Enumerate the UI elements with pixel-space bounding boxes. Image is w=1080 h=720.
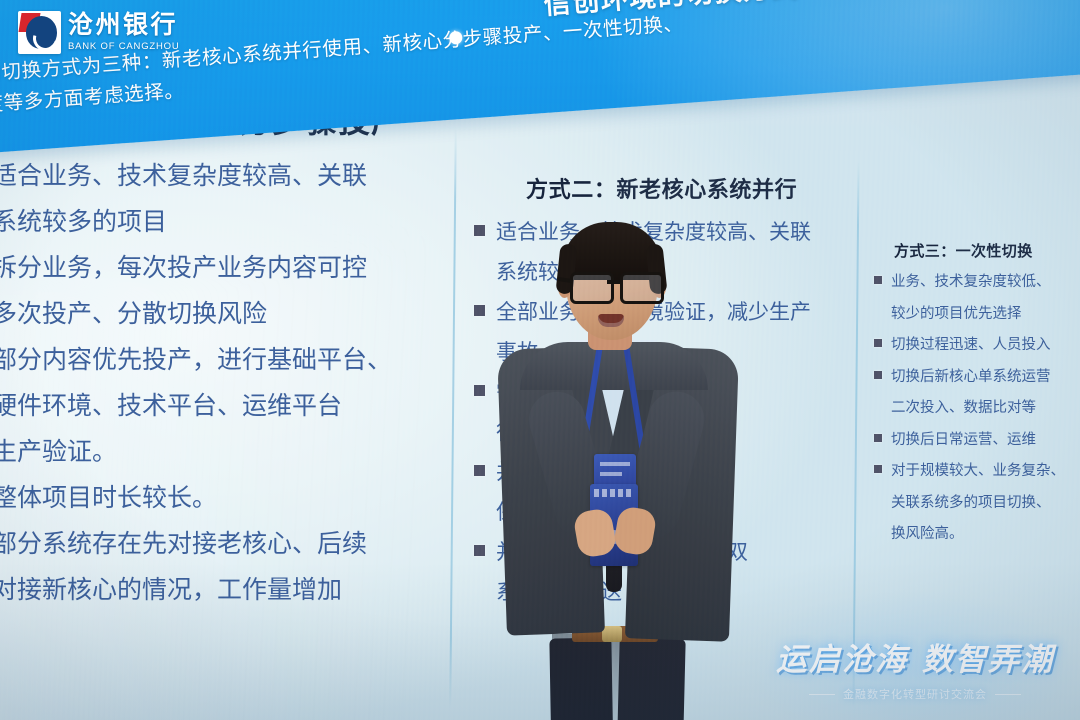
- column-three-bullets: 业务、技术复杂度较低、 较少的项目优先选择 切换过程迅速、人员投入 切换后新核心…: [872, 270, 1080, 548]
- list-item: 部分内容优先投产，进行基础平台、: [0, 340, 436, 380]
- list-item: 对于规模较大、业务复杂、: [872, 459, 1080, 485]
- list-item: 关联系统多的项目切换、: [872, 491, 1080, 517]
- list-item: 生产验证。: [0, 432, 436, 472]
- glasses-lens-right: [620, 272, 664, 304]
- column-one-bullets: 适合业务、技术复杂度较高、关联 系统较多的项目 拆分业务，每次投产业务内容可控 …: [0, 156, 436, 610]
- badge-line-2: [600, 472, 622, 476]
- column-three-number: 方式三: [894, 243, 940, 260]
- list-item: 多次投产、分散切换风险: [0, 294, 436, 334]
- glasses-lens-left: [570, 272, 614, 304]
- bank-logo-text: 沧州银行 BANK OF CANGZHOU: [68, 13, 180, 52]
- mic-flag-text-mark: [594, 489, 634, 497]
- badge-line-1: [600, 462, 630, 466]
- watermark-glow: [740, 590, 1080, 720]
- right-leg: [612, 637, 685, 720]
- list-item: 业务、技术复杂度较低、: [872, 270, 1080, 296]
- list-item: 部分系统存在先对接老核心、后续: [0, 524, 436, 564]
- left-leg: [549, 637, 616, 720]
- column-two-subtitle: 新老核心系统并行: [616, 177, 797, 202]
- list-item: 二次投入、数据比对等: [872, 396, 1080, 422]
- list-item: 对接新核心的情况，工作量增加: [0, 570, 436, 610]
- list-item: 切换后日常运营、运维: [872, 428, 1080, 454]
- list-item: 切换过程迅速、人员投入: [872, 333, 1080, 359]
- list-item: 适合业务、技术复杂度较高、关联: [0, 156, 436, 196]
- bank-logo-mark-icon: [18, 11, 61, 54]
- mouth: [598, 314, 624, 327]
- column-three-heading: 方式三：一次性切换: [872, 240, 1080, 261]
- column-two-separator: ：: [594, 177, 617, 202]
- bank-name-cn: 沧州银行: [68, 13, 180, 38]
- column-three-subtitle: 一次性切换: [956, 243, 1033, 260]
- list-item: 硬件环境、技术平台、运维平台: [0, 386, 436, 426]
- list-item: 切换后新核心单系统运营: [872, 365, 1080, 391]
- list-item: 拆分业务，每次投产业务内容可控: [0, 248, 436, 288]
- list-item: 系统较多的项目: [0, 202, 436, 242]
- belt-buckle: [602, 626, 622, 642]
- list-item: 整体项目时长较长。: [0, 478, 436, 518]
- glasses-bridge: [607, 280, 621, 284]
- column-two-heading: 方式二：新老核心系统并行: [470, 172, 848, 204]
- column-two-number: 方式二: [526, 177, 594, 202]
- bank-name-en: BANK OF CANGZHOU: [68, 42, 180, 52]
- bank-logo: 沧州银行 BANK OF CANGZHOU: [18, 11, 180, 54]
- slide-column-one: 方式一：新核心分步骤投产 适合业务、技术复杂度较高、关联 系统较多的项目 拆分业…: [0, 96, 436, 616]
- slide-column-three: 方式三：一次性切换 业务、技术复杂度较低、 较少的项目优先选择 切换过程迅速、人…: [872, 240, 1080, 554]
- presentation-photo: 方式一：新核心分步骤投产 适合业务、技术复杂度较高、关联 系统较多的项目 拆分业…: [0, 0, 1080, 720]
- list-item: 较少的项目优先选择: [872, 302, 1080, 328]
- list-item: 换风险高。: [872, 522, 1080, 548]
- column-three-separator: ：: [940, 243, 955, 260]
- presenter-figure: [480, 222, 750, 720]
